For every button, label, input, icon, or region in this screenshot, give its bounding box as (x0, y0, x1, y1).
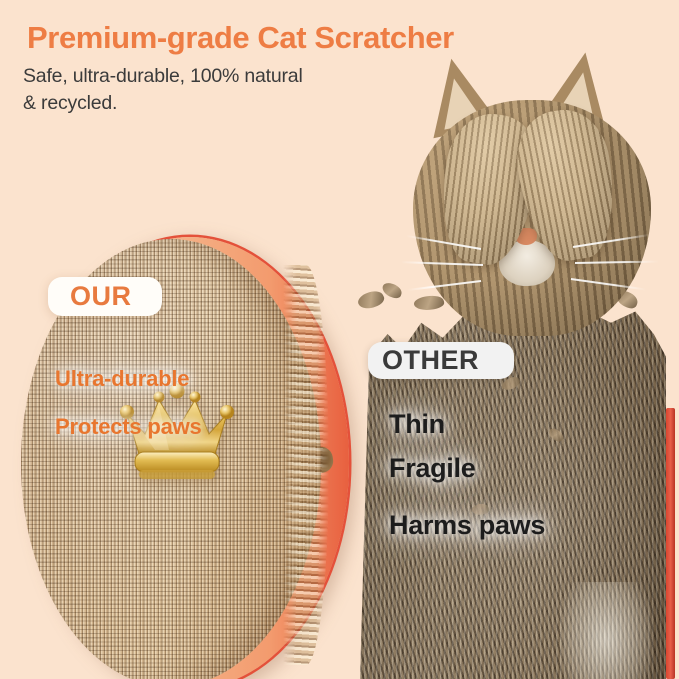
product-comparison-image: Premium-grade Cat Scratcher Safe, ultra-… (0, 0, 679, 679)
other-worn-patch (560, 582, 652, 679)
page-title: Premium-grade Cat Scratcher (27, 20, 454, 56)
page-subtitle: Safe, ultra-durable, 100% natural & recy… (23, 63, 303, 117)
cardboard-shred (356, 287, 386, 312)
other-feature-item: Harms paws (389, 510, 545, 541)
cat-facepalm (395, 52, 675, 352)
other-badge: OTHER (368, 342, 514, 379)
our-cardboard-layers (283, 265, 329, 665)
our-feature-item: Protects paws (55, 414, 202, 440)
our-feature-item: Ultra-durable (55, 366, 189, 392)
other-scratcher-edge (666, 408, 675, 679)
our-badge: OUR (48, 277, 162, 316)
other-feature-item: Fragile (389, 453, 475, 484)
other-feature-item: Thin (389, 409, 445, 440)
